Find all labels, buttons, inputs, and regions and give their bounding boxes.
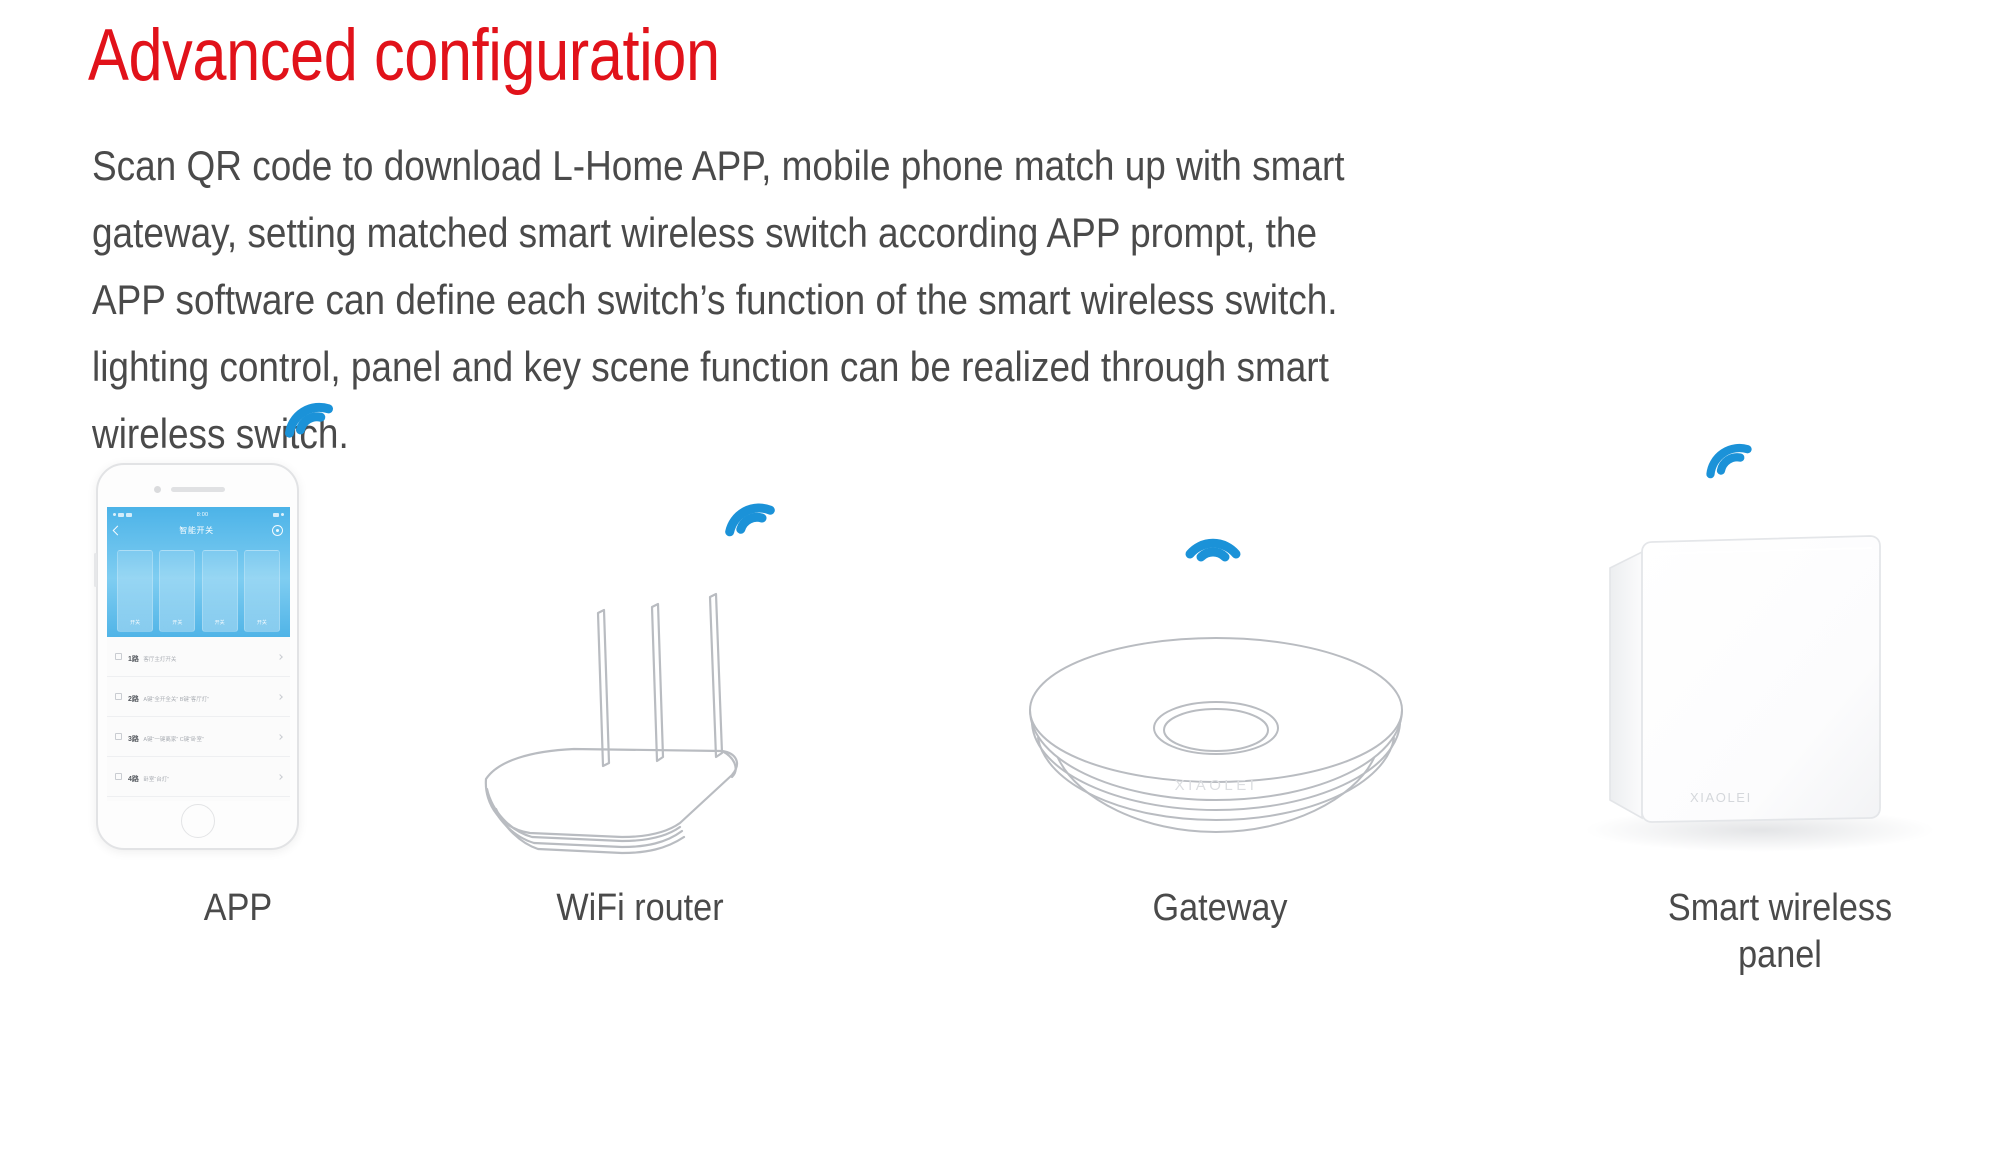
switch-icon (115, 693, 122, 700)
status-bar-right (273, 513, 284, 517)
phone-camera (154, 486, 161, 493)
paragraph-line-2: gateway, setting matched smart wireless … (92, 199, 1764, 266)
wifi-signal-icon-app (274, 375, 344, 445)
device-row: 8:00 智能开关 (0, 455, 2000, 1075)
switch-column-label: 开关 (118, 619, 152, 626)
switch-icon (115, 773, 122, 780)
switch-icon (115, 733, 122, 740)
list-item-subtitle: 客厅主灯开关 (143, 657, 176, 663)
list-item-title: 3路 (128, 736, 139, 743)
list-item[interactable]: 4路 卧室“台灯” (107, 757, 290, 797)
caption-wifi-router: WiFi router (487, 885, 793, 932)
chevron-left-icon[interactable] (113, 525, 123, 535)
phone-side-button[interactable] (94, 553, 97, 587)
phone-screen[interactable]: 8:00 智能开关 (107, 507, 290, 801)
device-wifi-router: WiFi router (470, 455, 830, 1015)
wifi-status-icon (126, 513, 132, 517)
caption-smart-wireless-panel: Smart wireless panel (1591, 885, 1969, 979)
wifi-signal-icon-router (715, 475, 785, 545)
caption-gateway: Gateway (1040, 885, 1400, 932)
list-item[interactable]: 1路 客厅主灯开关 (107, 637, 290, 677)
phone-status-bar: 8:00 (107, 510, 290, 519)
carrier-icon (118, 513, 124, 517)
device-gateway: XIAOLEI Gateway (1020, 455, 1420, 1015)
page-title: Advanced configuration (88, 14, 720, 97)
app-hero-panel: 8:00 智能开关 (107, 507, 290, 637)
caption-app: APP (103, 885, 373, 932)
list-item-text: 2路 A键“全开全关” B键“客厅灯” (128, 688, 278, 706)
status-bar-time: 8:00 (197, 512, 209, 518)
phone-mockup: 8:00 智能开关 (96, 463, 299, 850)
paragraph-line-3: APP software can define each switch’s fu… (92, 266, 1764, 333)
advanced-configuration-slide: Advanced configuration Scan QR code to d… (0, 0, 2000, 1166)
device-smart-wireless-panel: XIAOLEI Smart wireless panel (1570, 455, 1990, 1015)
gear-icon[interactable] (272, 525, 283, 536)
phone-speaker (171, 487, 225, 492)
signal-icon (113, 513, 116, 516)
list-item-text: 1路 客厅主灯开关 (128, 648, 278, 666)
gateway-brand-text: XIAOLEI (1175, 777, 1258, 794)
switch-column[interactable]: 开关 (202, 550, 238, 632)
paragraph-line-1: Scan QR code to download L-Home APP, mob… (92, 132, 1764, 199)
status-bar-left (113, 513, 132, 517)
switch-column[interactable]: 开关 (117, 550, 153, 632)
list-item[interactable]: 3路 A键“一键离家” C键“卧室” (107, 717, 290, 757)
switch-column-label: 开关 (245, 619, 279, 626)
switch-icon (115, 653, 122, 660)
switch-column-label: 开关 (160, 619, 194, 626)
device-app: 8:00 智能开关 (88, 455, 388, 1015)
battery-icon (273, 513, 279, 517)
list-item-title: 1路 (128, 656, 139, 663)
bluetooth-icon (281, 513, 284, 516)
caption-line-2: panel (1591, 932, 1969, 979)
list-item-subtitle: A键“全开全关” B键“客厅灯” (143, 697, 209, 703)
list-item[interactable]: 2路 A键“全开全关” B键“客厅灯” (107, 677, 290, 717)
switch-column[interactable]: 开关 (159, 550, 195, 632)
panel-brand-text: XIAOLEI (1690, 790, 1752, 805)
wifi-signal-icon-panel (1695, 417, 1763, 485)
caption-line-1: Smart wireless (1591, 885, 1969, 932)
switch-column-label: 开关 (203, 619, 237, 626)
app-nav-title: 智能开关 (179, 525, 213, 536)
chevron-right-icon (277, 774, 283, 780)
switch-column[interactable]: 开关 (244, 550, 280, 632)
list-item-subtitle: 卧室“台灯” (143, 777, 169, 783)
smart-panel-illustration: XIAOLEI (1570, 500, 1990, 860)
gateway-illustration: XIAOLEI (1020, 600, 1420, 870)
list-item-text: 4路 卧室“台灯” (128, 768, 278, 786)
chevron-right-icon (277, 734, 283, 740)
list-item-subtitle: A键“一键离家” C键“卧室” (143, 737, 204, 743)
chevron-right-icon (277, 694, 283, 700)
app-switch-list: 1路 客厅主灯开关 2路 A键“全开全关” B键“客厅灯” (107, 637, 290, 797)
app-nav-bar: 智能开关 (107, 521, 290, 539)
list-item-title: 4路 (128, 776, 139, 783)
phone-home-button[interactable] (181, 804, 215, 838)
list-item-text: 3路 A键“一键离家” C键“卧室” (128, 728, 278, 746)
chevron-right-icon (277, 654, 283, 660)
wifi-router-illustration (470, 565, 810, 865)
wifi-signal-icon-gateway (1178, 510, 1248, 572)
list-item-title: 2路 (128, 696, 139, 703)
switch-column-group: 开关 开关 开关 开关 (107, 543, 290, 637)
